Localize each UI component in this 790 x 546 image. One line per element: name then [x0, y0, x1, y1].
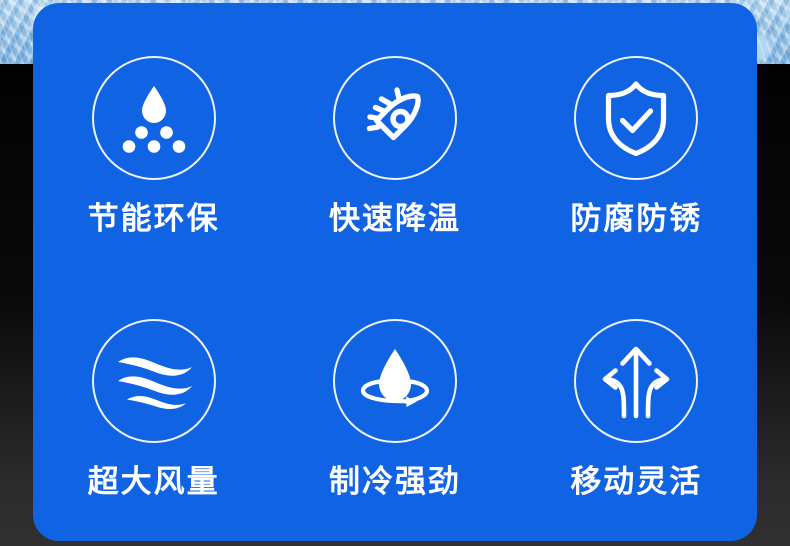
feature-highlight-banner: 节能环保: [0, 0, 790, 546]
feature-item-strong-refrigeration[interactable]: 制冷强劲: [274, 319, 515, 499]
icon-ring: [333, 56, 457, 180]
icon-ring: [92, 319, 216, 443]
icon-ring: [574, 56, 698, 180]
icon-ring: [92, 56, 216, 180]
air-flow-waves-icon: [112, 351, 196, 411]
feature-label: 防腐防锈: [570, 202, 702, 236]
water-drop-orbit-icon: [351, 343, 439, 419]
feature-item-large-airflow[interactable]: 超大风量: [33, 319, 274, 499]
feature-grid: 节能环保: [33, 3, 757, 541]
shield-check-icon: [600, 79, 672, 157]
water-drop-with-dots-icon: [115, 82, 193, 154]
feature-item-anti-corrosion[interactable]: 防腐防锈: [516, 56, 757, 236]
three-direction-arrows-icon: [595, 342, 677, 420]
feature-card: 节能环保: [33, 3, 757, 541]
icon-ring: [574, 319, 698, 443]
feature-label: 移动灵活: [570, 465, 702, 499]
feature-label: 节能环保: [88, 202, 220, 236]
feature-label: 快速降温: [329, 202, 461, 236]
feature-label: 超大风量: [88, 465, 220, 499]
icon-ring: [333, 319, 457, 443]
feature-item-energy-saving[interactable]: 节能环保: [33, 56, 274, 236]
feature-item-rapid-cooling[interactable]: 快速降温: [274, 56, 515, 236]
feature-item-flexible-mobility[interactable]: 移动灵活: [516, 319, 757, 499]
feature-label: 制冷强劲: [329, 465, 461, 499]
rocket-comet-icon: [355, 78, 435, 158]
